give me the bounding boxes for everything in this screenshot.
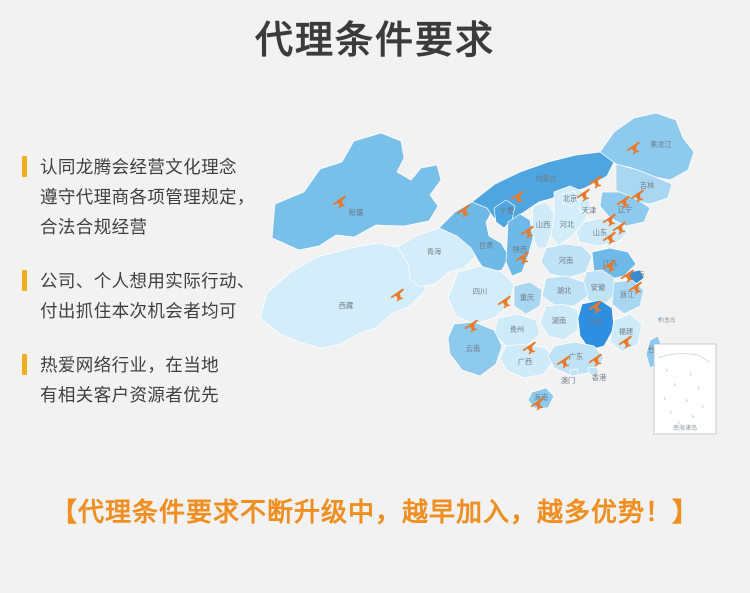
diaoyu-islands: 钓鱼岛 xyxy=(658,316,676,324)
label-xizang: 西藏 xyxy=(339,301,353,310)
label-chongqing: 重庆 xyxy=(520,293,534,302)
south-china-sea-inset: 南海诸岛 xyxy=(654,344,716,434)
label-tianjin: 天津 xyxy=(582,206,596,215)
label-neimenggu: 内蒙古 xyxy=(535,174,557,183)
promo-page: 代理条件要求 认同龙腾会经营文化理念 遵守代理商各项管理规定， 合法合规经营 公… xyxy=(0,0,750,593)
bullet-bar-icon xyxy=(22,156,27,177)
label-xianggang: 香港 xyxy=(592,373,607,382)
label-zhejiang: 浙江 xyxy=(620,290,634,299)
label-anhui: 安徽 xyxy=(591,283,606,292)
province-xinjiang xyxy=(272,133,441,250)
label-shandong: 山东 xyxy=(593,228,607,237)
bullet-bar-icon xyxy=(22,270,27,291)
label-xinjiang: 新疆 xyxy=(349,208,363,217)
page-title: 代理条件要求 xyxy=(0,18,750,66)
label-hunan: 湖南 xyxy=(552,316,566,325)
label-heilongjiang: 黑龙江 xyxy=(650,140,672,149)
label-guangdong: 广东 xyxy=(569,352,583,361)
label-hubei: 湖北 xyxy=(557,286,571,295)
label-henan: 河南 xyxy=(559,256,573,265)
promo-banner: 【代理条件要求不断升级中，越早加入，越多优势！】 xyxy=(0,492,750,529)
province-heilongjiang xyxy=(600,113,694,180)
province-aomen xyxy=(570,369,578,376)
label-hebei: 河北 xyxy=(560,220,574,229)
label-shanxi: 山西 xyxy=(536,220,550,229)
china-map-svg: 新疆 西藏 青海 甘肃 内蒙古 宁夏 陕西 山西 河北 北京 天津 山东 河南 … xyxy=(258,96,736,486)
province-xizang xyxy=(260,243,430,348)
china-agent-distribution-map: 新疆 西藏 青海 甘肃 内蒙古 宁夏 陕西 山西 河北 北京 天津 山东 河南 … xyxy=(258,96,736,486)
label-yunnan: 云南 xyxy=(466,344,480,353)
label-sichuan: 四川 xyxy=(473,287,487,296)
label-aomen: 澳门 xyxy=(561,376,575,385)
label-qinghai: 青海 xyxy=(427,247,441,256)
label-fujian: 福建 xyxy=(619,327,633,336)
bullet-bar-icon xyxy=(22,354,27,375)
label-shaanxi: 陕西 xyxy=(513,245,527,254)
label-ningxia: 宁夏 xyxy=(500,206,514,215)
province-shapes xyxy=(260,113,694,408)
label-beijing: 北京 xyxy=(563,194,577,203)
label-nanhai-zhudao: 南海诸岛 xyxy=(673,424,697,432)
label-jilin: 吉林 xyxy=(640,181,654,190)
label-guizhou: 贵州 xyxy=(510,325,524,334)
label-jiangxi: 江西 xyxy=(588,317,602,326)
label-gansu: 甘肃 xyxy=(479,241,493,250)
label-diaoyudao: 钓鱼岛 xyxy=(659,316,676,324)
label-guangxi: 广西 xyxy=(518,357,532,366)
